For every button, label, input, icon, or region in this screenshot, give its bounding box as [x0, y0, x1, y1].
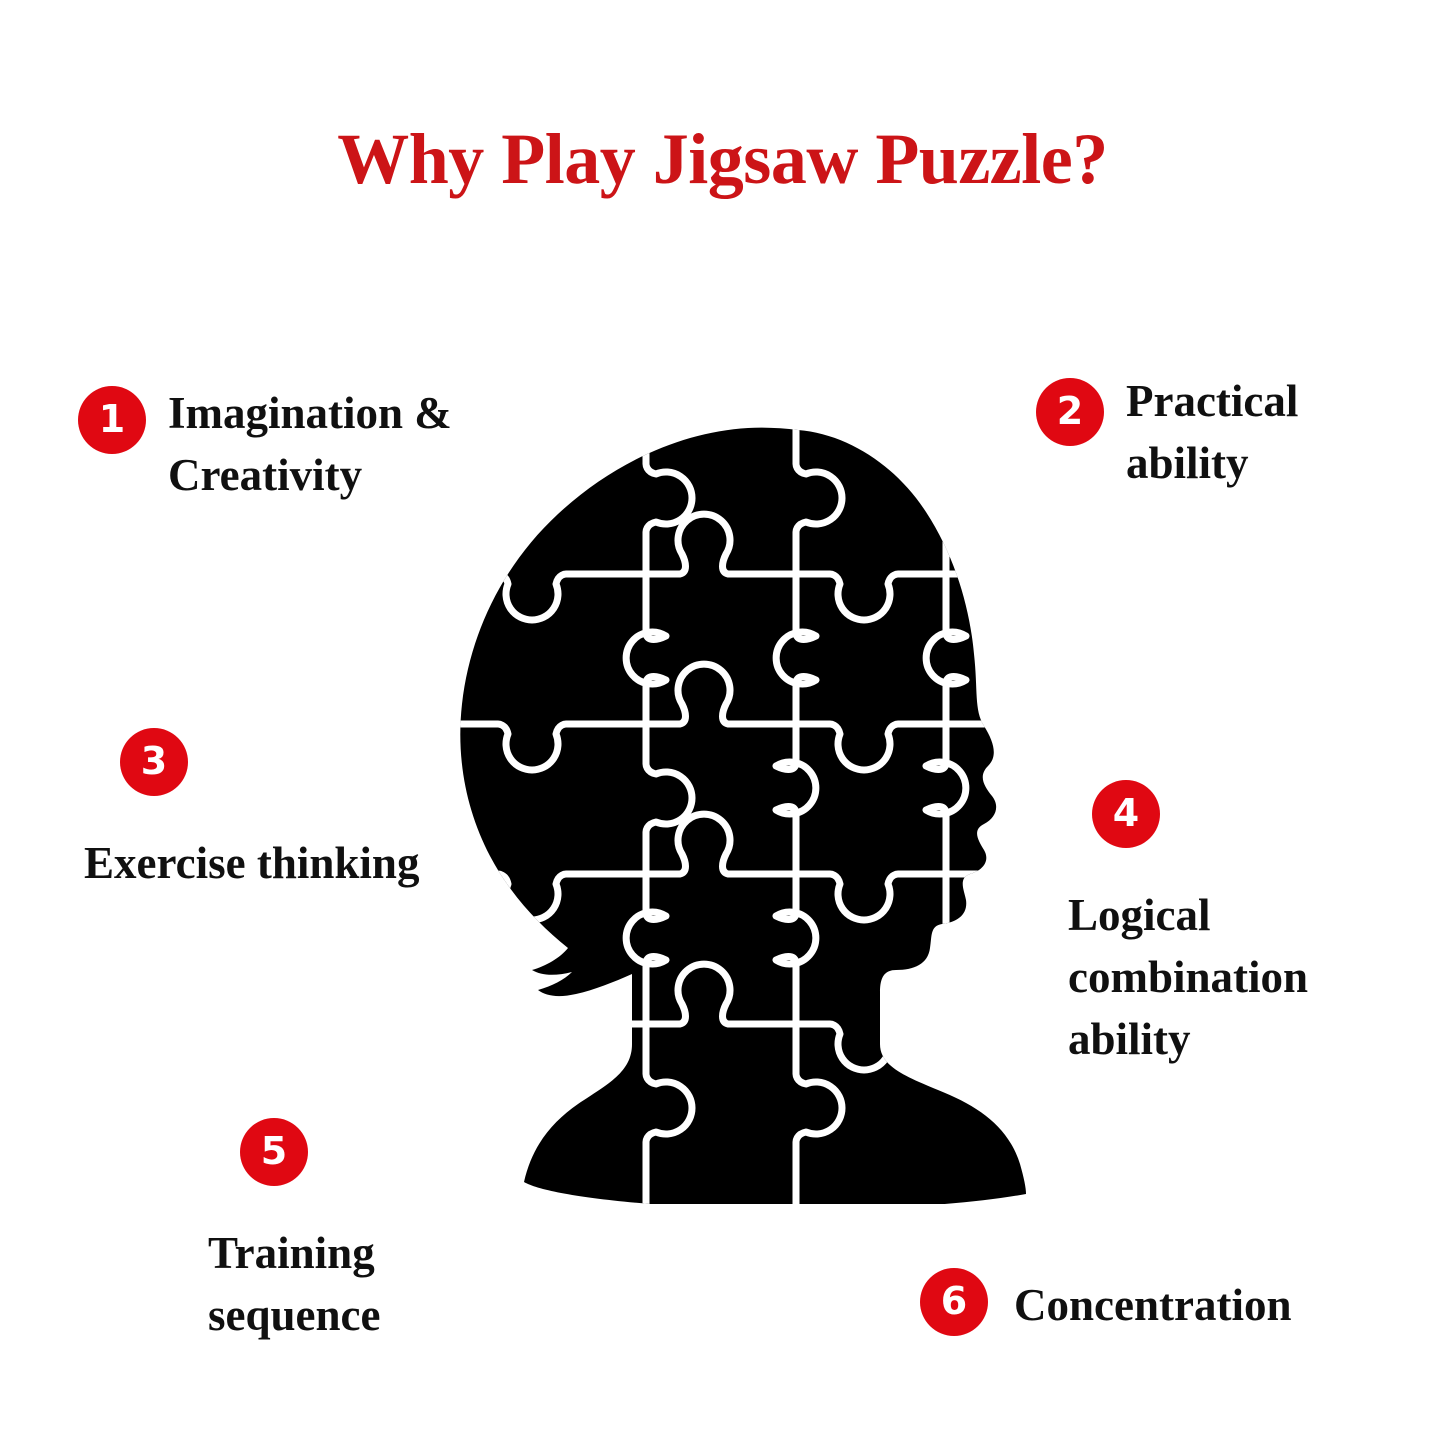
benefit-badge-1: 1	[78, 386, 146, 454]
head-silhouette-jigsaw-illustration	[418, 404, 1038, 1204]
poster-canvas: Why Play Jigsaw Puzzle?	[0, 0, 1445, 1445]
benefit-item-5[interactable]: 5 Training sequence	[240, 1118, 540, 1346]
benefit-badge-3: 3	[120, 728, 188, 796]
benefit-label-2: Practical ability	[1126, 370, 1406, 494]
benefit-label-4: Logical combination ability	[1068, 884, 1422, 1070]
benefit-item-1[interactable]: 1 Imagination & Creativity	[78, 386, 548, 506]
page-title: Why Play Jigsaw Puzzle?	[0, 118, 1445, 201]
benefit-label-3: Exercise thinking	[84, 832, 450, 894]
benefit-item-4[interactable]: 4 Logical combination ability	[1092, 780, 1422, 1070]
benefit-item-6[interactable]: 6 Concentration	[920, 1268, 1400, 1336]
benefit-item-3[interactable]: 3 Exercise thinking	[120, 728, 450, 894]
benefit-label-5: Training sequence	[208, 1222, 540, 1346]
benefit-badge-2: 2	[1036, 378, 1104, 446]
benefit-badge-6: 6	[920, 1268, 988, 1336]
benefit-item-2[interactable]: 2 Practical ability	[1036, 378, 1406, 494]
benefit-badge-5: 5	[240, 1118, 308, 1186]
benefit-label-6: Concentration	[1014, 1274, 1291, 1336]
benefit-label-1: Imagination & Creativity	[168, 382, 548, 506]
benefit-badge-4: 4	[1092, 780, 1160, 848]
